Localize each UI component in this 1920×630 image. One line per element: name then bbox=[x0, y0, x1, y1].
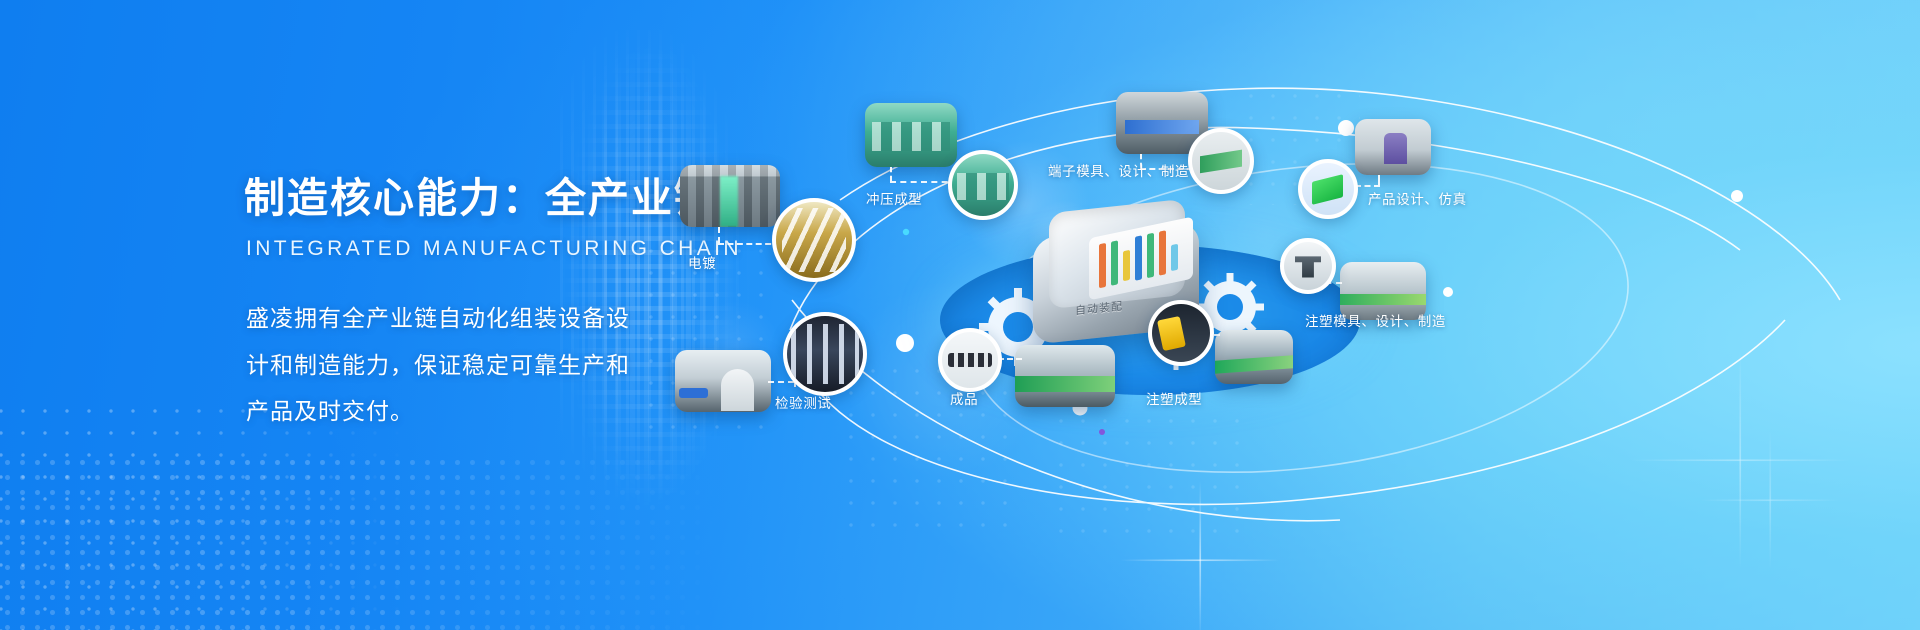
plating-photo bbox=[680, 165, 780, 227]
page-title: 制造核心能力：全产业链 bbox=[244, 176, 714, 221]
stamping-photo bbox=[865, 103, 957, 167]
finished-photo bbox=[1015, 345, 1115, 407]
icon-stamping[interactable] bbox=[948, 150, 1018, 220]
thumb-product-design[interactable] bbox=[1355, 119, 1431, 175]
injection-mold-icon bbox=[1284, 242, 1332, 290]
description-block: 盛凌拥有全产业链自动化组装设备设 计和制造能力，保证稳定可靠生产和 产品及时交付… bbox=[246, 305, 714, 424]
injection-photo bbox=[1215, 330, 1293, 384]
thumb-plating[interactable] bbox=[680, 165, 780, 227]
thumb-stamping[interactable] bbox=[865, 103, 957, 167]
machine-top bbox=[1049, 199, 1185, 309]
hero-banner: 制造核心能力：全产业链 INTEGRATED MANUFACTURING CHA… bbox=[0, 0, 1920, 630]
icon-product-design[interactable] bbox=[1298, 159, 1358, 219]
hero-copy-block: 制造核心能力：全产业链 INTEGRATED MANUFACTURING CHA… bbox=[244, 176, 714, 444]
label-stamping: 冲压成型 bbox=[866, 188, 922, 208]
label-finished: 成品 bbox=[950, 388, 978, 408]
inspection-icon bbox=[787, 316, 863, 392]
label-terminal-mold: 端子模具、设计、制造 bbox=[1048, 160, 1189, 180]
icon-finished[interactable] bbox=[938, 328, 1002, 392]
thumb-injection[interactable] bbox=[1215, 330, 1293, 384]
icon-plating[interactable] bbox=[772, 198, 856, 282]
description-line-3: 产品及时交付。 bbox=[246, 398, 714, 424]
plating-icon bbox=[776, 202, 852, 278]
description-line-2: 计和制造能力，保证稳定可靠生产和 bbox=[246, 352, 714, 378]
stamping-icon bbox=[952, 154, 1014, 216]
product-design-photo bbox=[1355, 119, 1431, 175]
label-product-design: 产品设计、仿真 bbox=[1368, 188, 1467, 208]
connector-stamping-v bbox=[890, 167, 892, 181]
label-injection: 注塑成型 bbox=[1146, 388, 1202, 408]
label-injection-mold: 注塑模具、设计、制造 bbox=[1305, 310, 1446, 330]
terminal-mold-icon bbox=[1192, 132, 1250, 190]
finished-goods-icon bbox=[942, 332, 998, 388]
injection-icon bbox=[1152, 304, 1210, 362]
description-line-1: 盛凌拥有全产业链自动化组装设备设 bbox=[246, 305, 714, 331]
product-design-icon bbox=[1302, 163, 1354, 215]
connector-plating-v bbox=[718, 227, 720, 243]
thumb-inspection[interactable] bbox=[675, 350, 771, 412]
label-inspection: 检验测试 bbox=[775, 392, 831, 412]
inspection-photo bbox=[675, 350, 771, 412]
label-plating: 电镀 bbox=[688, 252, 716, 272]
machine-tooling-well bbox=[1089, 217, 1193, 301]
connector-design-v bbox=[1378, 175, 1380, 185]
icon-inspection[interactable] bbox=[783, 312, 867, 396]
icon-injection-mold[interactable] bbox=[1280, 238, 1336, 294]
icon-terminal-mold[interactable] bbox=[1188, 128, 1254, 194]
page-subtitle: INTEGRATED MANUFACTURING CHAIN bbox=[246, 237, 714, 261]
thumb-finished[interactable] bbox=[1015, 345, 1115, 407]
icon-injection[interactable] bbox=[1148, 300, 1214, 366]
manufacturing-chain-diagram: 自动装配 电镀 冲压成型 端子模具、设计、制造 bbox=[780, 0, 1920, 630]
